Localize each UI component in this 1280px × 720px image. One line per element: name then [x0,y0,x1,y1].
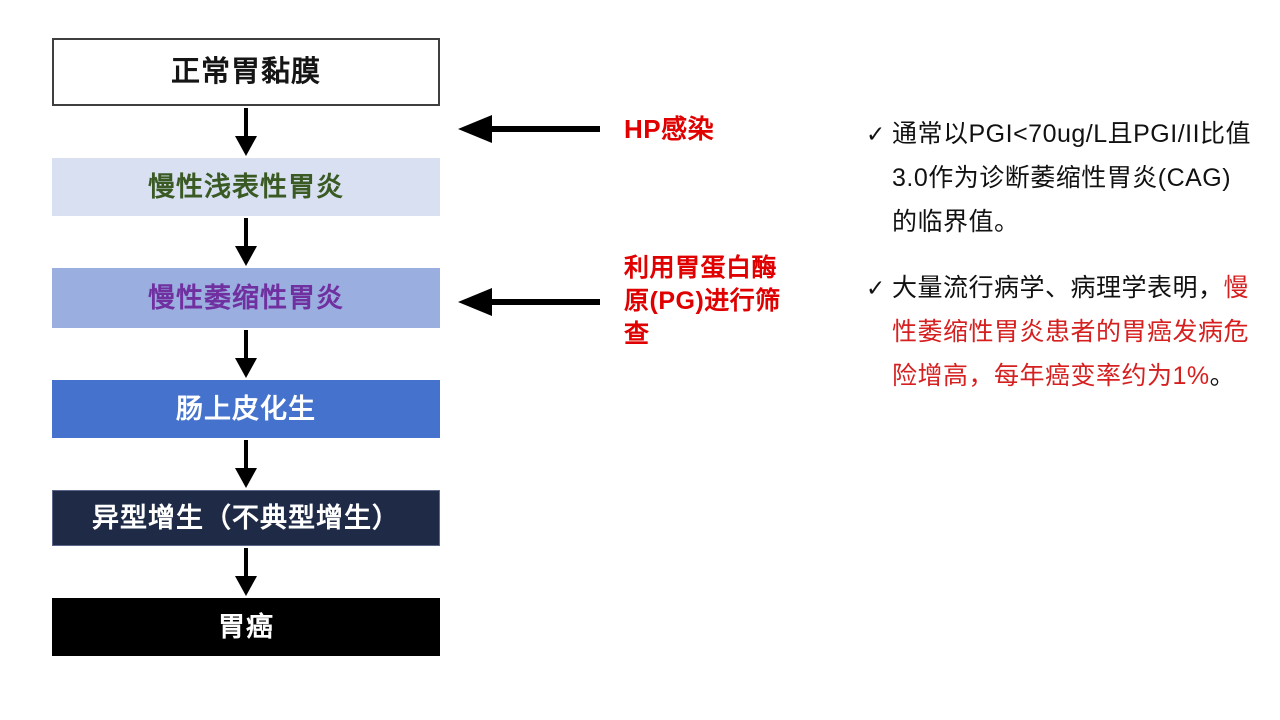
flow-step-label: 正常胃黏膜 [171,58,321,87]
flow-step-label: 异型增生（不典型增生） [92,505,400,532]
annotation-pg-screening: 利用胃蛋白酶 原(PG)进行筛 查 [452,252,832,351]
annotation-hp-label: HP感染 [624,112,714,146]
flow-connector-arrow [52,438,440,490]
down-arrow-icon [231,106,261,158]
flow-step-6: 胃癌 [52,598,440,656]
note-segment: 。 [1210,362,1236,390]
annotation-pg-label: 利用胃蛋白酶 原(PG)进行筛 查 [624,252,832,351]
note-cancer-risk: ✓大量流行病学、病理学表明，慢性萎缩性胃炎患者的胃癌发病危险增高，每年癌变率约为… [866,266,1256,398]
note-body: 通常以PGI<70ug/L且PGI/II比值3.0作为诊断萎缩性胃炎(CAG)的… [892,112,1256,244]
flow-step-5: 异型增生（不典型增生） [52,490,440,546]
down-arrow-icon [231,546,261,598]
flow-step-1: 正常胃黏膜 [52,38,440,106]
flow-connector-arrow [52,328,440,380]
flow-step-label: 慢性浅表性胃炎 [148,174,344,201]
annotation-hp-infection: HP感染 [452,112,822,146]
flow-connector-arrow [52,216,440,268]
flow-step-2: 慢性浅表性胃炎 [52,158,440,216]
flow-step-label: 肠上皮化生 [176,396,316,423]
note-pgi-threshold: ✓通常以PGI<70ug/L且PGI/II比值3.0作为诊断萎缩性胃炎(CAG)… [866,112,1256,244]
flow-step-3: 慢性萎缩性胃炎 [52,268,440,328]
check-icon: ✓ [866,112,892,156]
down-arrow-icon [231,216,261,268]
clinical-notes-list: ✓通常以PGI<70ug/L且PGI/II比值3.0作为诊断萎缩性胃炎(CAG)… [866,112,1256,420]
flow-step-4: 肠上皮化生 [52,380,440,438]
left-arrow-icon [452,287,602,317]
note-segment: 通常以PGI<70ug/L且PGI/II比值3.0作为诊断萎缩性胃炎(CAG)的… [892,120,1251,236]
note-body: 大量流行病学、病理学表明，慢性萎缩性胃炎患者的胃癌发病危险增高，每年癌变率约为1… [892,266,1256,398]
flow-step-label: 胃癌 [218,614,274,641]
note-segment: 大量流行病学、病理学表明， [892,274,1224,302]
flow-step-label: 慢性萎缩性胃炎 [148,285,344,312]
check-icon: ✓ [866,266,892,310]
left-arrow-icon [452,114,602,144]
gastric-cancer-flowchart: 正常胃黏膜慢性浅表性胃炎慢性萎缩性胃炎肠上皮化生异型增生（不典型增生）胃癌 [52,38,440,656]
down-arrow-icon [231,328,261,380]
down-arrow-icon [231,438,261,490]
flow-connector-arrow [52,106,440,158]
flow-connector-arrow [52,546,440,598]
